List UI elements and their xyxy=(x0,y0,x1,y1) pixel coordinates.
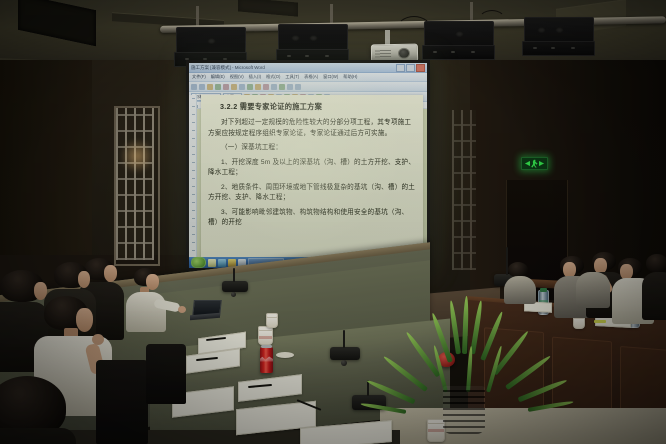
coca-cola-can[interactable] xyxy=(260,347,273,373)
word-standard-toolbar[interactable] xyxy=(189,82,427,92)
start-button[interactable] xyxy=(191,257,206,268)
lamp-lens-icon xyxy=(291,35,300,41)
projector-mount xyxy=(385,30,390,45)
menu-item-table[interactable]: 表格(A) xyxy=(304,73,318,81)
word-document-area: 3.2.2 需要专家论证的施工方案 对下列超过一定规模的危险性较大的分部分项工程… xyxy=(189,95,427,259)
new-doc-icon xyxy=(191,84,197,90)
projector-lens-icon xyxy=(398,48,410,59)
print-icon xyxy=(215,84,221,90)
menu-item-file[interactable]: 文件(F) xyxy=(192,73,206,81)
projector-vent xyxy=(375,49,391,57)
plant-pot xyxy=(443,386,485,434)
hair xyxy=(646,254,666,272)
running-man-icon xyxy=(531,160,538,168)
lamp-lens-icon xyxy=(537,27,546,33)
open-icon xyxy=(199,84,205,90)
barn-door-flap xyxy=(522,41,595,56)
plant-leaf xyxy=(480,311,504,361)
word-menu-bar[interactable]: 文件(F) 编辑(E) 视图(V) 插入(I) 格式(O) 工具(T) 表格(A… xyxy=(189,73,427,82)
can-logo-wave xyxy=(260,356,273,363)
plant-leaf xyxy=(430,312,452,363)
laptop[interactable] xyxy=(190,300,220,320)
hand xyxy=(178,306,186,313)
cut-icon xyxy=(239,84,245,90)
help-icon xyxy=(295,84,301,90)
torso-white-shirt xyxy=(126,292,166,332)
cup-lid xyxy=(266,313,278,318)
warm-light-glow xyxy=(120,138,154,174)
document-paragraph-3: 1、开挖深度 5m 及以上的深基坑（沟、槽）的土方开挖、支护、降水工程； xyxy=(208,158,416,179)
plant-leaf xyxy=(462,296,469,354)
microphone-base xyxy=(222,281,248,292)
preview-icon xyxy=(223,84,229,90)
window-controls[interactable] xyxy=(396,64,425,72)
bottle-cap xyxy=(540,288,547,292)
undo-icon xyxy=(263,84,269,90)
projection-screen[interactable]: 施工方案 [兼容模式] - Microsoft Word 文件(F) 编辑(E)… xyxy=(189,63,427,268)
hair xyxy=(508,262,528,277)
lattice-frame-left xyxy=(114,106,160,266)
lamp-lens-icon xyxy=(309,35,318,41)
cup-band xyxy=(259,336,272,339)
document-heading: 3.2.2 需要专家论证的施工方案 xyxy=(220,102,416,112)
paste-icon xyxy=(255,84,261,90)
quicklaunch-icon-1[interactable] xyxy=(208,259,216,267)
face xyxy=(76,308,93,332)
highlighter-marker[interactable] xyxy=(594,320,606,323)
zoom-icon xyxy=(287,84,293,90)
torso-dark xyxy=(642,272,666,320)
microphone-head xyxy=(341,360,347,366)
microphone-neck xyxy=(233,268,235,282)
exit-arrow-right-icon xyxy=(539,161,544,166)
lamp-lens-icon xyxy=(455,31,464,37)
document-paragraph-5: 3、可能影响毗邻建筑物、构筑物结构和使用安全的基坑（沟、槽）的开挖 xyxy=(208,208,416,229)
paper-cup-1[interactable] xyxy=(258,327,273,345)
menu-item-insert[interactable]: 插入(I) xyxy=(249,73,261,81)
projection-screen-frame: 施工方案 [兼容模式] - Microsoft Word 文件(F) 编辑(E)… xyxy=(186,60,430,271)
menu-item-window[interactable]: 窗口(W) xyxy=(323,73,338,81)
copy-icon xyxy=(247,84,253,90)
stage-light-4 xyxy=(524,17,594,46)
cup-saucer-1 xyxy=(276,352,294,358)
spellcheck-icon xyxy=(231,84,237,90)
menu-item-format[interactable]: 格式(O) xyxy=(266,73,280,81)
hand xyxy=(92,334,104,345)
quicklaunch-icon-2[interactable] xyxy=(218,259,226,267)
chair-left-2 xyxy=(146,344,186,404)
save-icon xyxy=(207,84,213,90)
can-top xyxy=(261,345,272,348)
exit-arrow-left-icon xyxy=(525,161,530,166)
plant-leaf xyxy=(449,300,461,354)
close-icon xyxy=(416,64,425,72)
face xyxy=(78,271,90,288)
lattice-screen-right xyxy=(452,110,476,270)
stage-light-2 xyxy=(278,24,348,54)
minimize-icon xyxy=(396,64,405,72)
paper-cup-2[interactable] xyxy=(266,314,278,328)
document-paragraph-1: 对下列超过一定规模的危险性较大的分部分项工程，其专项施工方案应按规定程序组织专家… xyxy=(208,118,416,139)
word-title-bar: 施工方案 [兼容模式] - Microsoft Word xyxy=(189,63,427,73)
maximize-icon xyxy=(406,64,415,72)
torso-dark xyxy=(0,428,76,444)
word-title-text: 施工方案 [兼容模式] - Microsoft Word xyxy=(191,63,396,72)
vertical-ruler xyxy=(189,95,197,259)
microphone-neck xyxy=(343,330,345,348)
document-page[interactable]: 3.2.2 需要专家论证的施工方案 对下列超过一定规模的危险性较大的分部分项工程… xyxy=(201,95,423,259)
exit-sign xyxy=(521,157,548,170)
microphone-base xyxy=(330,347,360,360)
lamp-lens-icon xyxy=(555,27,564,33)
torso-gray xyxy=(576,272,610,308)
power-cable xyxy=(396,16,432,44)
document-paragraph-2: （一）深基坑工程： xyxy=(208,143,416,154)
power-cable xyxy=(478,10,506,32)
menu-item-edit[interactable]: 编辑(E) xyxy=(211,73,225,81)
stage-light-1 xyxy=(176,27,246,57)
menu-item-view[interactable]: 视图(V) xyxy=(230,73,244,81)
menu-item-tools[interactable]: 工具(T) xyxy=(285,73,299,81)
chair-left-1 xyxy=(96,360,148,444)
redo-icon xyxy=(271,84,277,90)
conference-room-photo: 施工方案 [兼容模式] - Microsoft Word 文件(F) 编辑(E)… xyxy=(0,0,666,444)
document-paragraph-4: 2、地质条件、周围环境或地下管线极复杂的基坑（沟、槽）的土方开挖、支护、降水工程… xyxy=(208,183,416,204)
menu-item-help[interactable]: 帮助(H) xyxy=(343,73,357,81)
microphone-head xyxy=(231,292,236,297)
lamp-lens-icon xyxy=(207,38,216,44)
plant-leaf xyxy=(470,300,483,354)
table-icon xyxy=(279,84,285,90)
face xyxy=(34,282,47,300)
face xyxy=(104,265,117,282)
barn-door-flap xyxy=(422,45,495,60)
